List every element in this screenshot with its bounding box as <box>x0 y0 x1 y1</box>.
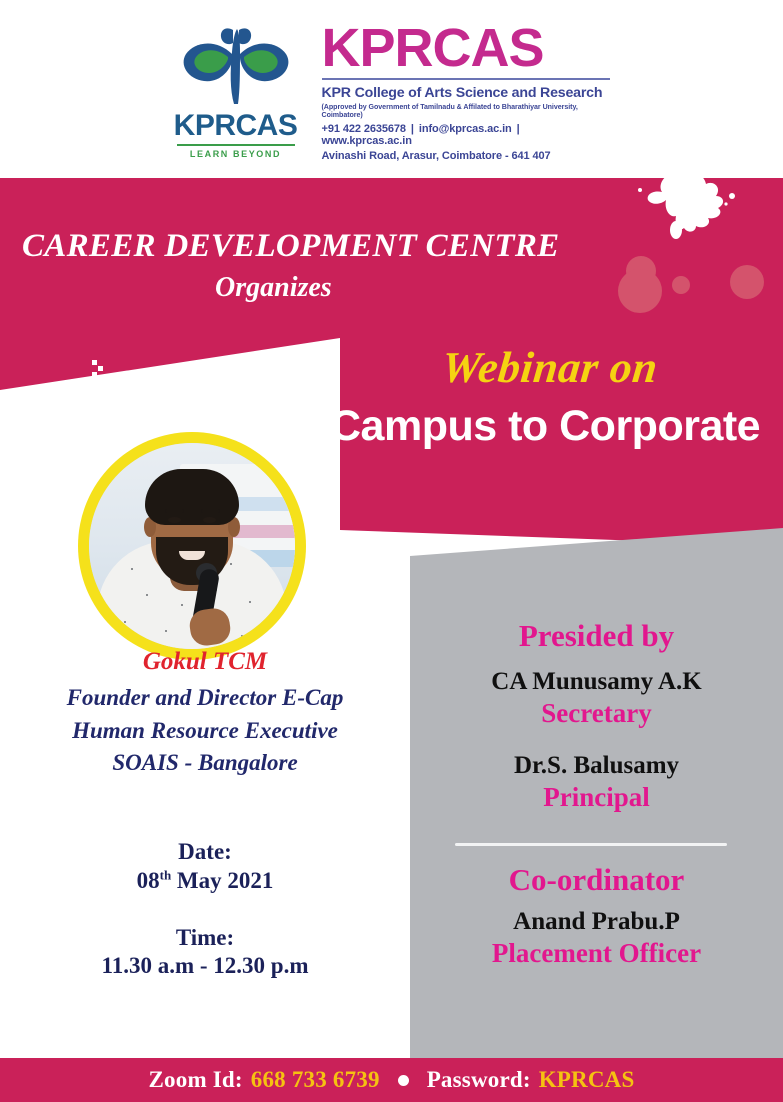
schedule-spacer <box>0 896 410 924</box>
dignitary-role: Principal <box>410 782 783 813</box>
presided-by-label: Presided by <box>410 618 783 654</box>
coordinator-name: Anand Prabu.P <box>410 908 783 936</box>
schedule-block: Date: 08th May 2021 Time: 11.30 a.m - 12… <box>0 838 410 981</box>
paint-splash-icon <box>612 170 742 250</box>
logo-wordmark: KPRCAS <box>174 111 298 141</box>
pixel-dot <box>92 372 97 377</box>
poster-header: KPRCAS LEARN BEYOND KPRCAS KPR College o… <box>0 0 783 178</box>
contact-separator-2: | <box>515 123 522 135</box>
coordinator-label: Co-ordinator <box>410 862 783 898</box>
decor-circle-3 <box>618 269 662 313</box>
pixel-dot <box>84 416 89 421</box>
brand-divider <box>322 78 610 80</box>
pixel-dot <box>98 366 103 371</box>
college-name: KPR College of Arts Science and Research <box>322 85 612 101</box>
pixel-dot <box>106 396 111 401</box>
brand-title: KPRCAS <box>322 22 612 75</box>
bullet-separator-icon <box>398 1075 409 1086</box>
password-label: Password: <box>427 1067 531 1093</box>
pixel-dot <box>50 398 55 403</box>
photo-eye-right <box>203 517 216 523</box>
dignitary-name: Dr.S. Balusamy <box>410 752 783 780</box>
dignitary-1: CA Munusamy A.K Secretary <box>410 668 783 729</box>
pixel-dot <box>108 412 113 417</box>
phone-number: +91 422 2635678 <box>322 123 406 135</box>
pixel-dot <box>92 360 97 365</box>
coordinator-role: Placement Officer <box>410 938 783 969</box>
speaker-role-line-2: Human Resource Executive <box>0 715 410 748</box>
pixel-dot <box>118 392 123 397</box>
photo-eye-left <box>168 517 181 523</box>
kprcas-logo: KPRCAS LEARN BEYOND <box>172 20 300 159</box>
approval-note: (Approved by Government of Tamilnadu & A… <box>322 103 612 119</box>
pixel-dot <box>104 432 109 437</box>
time-value: 11.30 a.m - 12.30 p.m <box>0 952 410 981</box>
logo-tagline: LEARN BEYOND <box>190 149 281 159</box>
date-month-year: May 2021 <box>171 868 273 893</box>
time-label: Time: <box>0 924 410 953</box>
pixel-dot <box>130 410 135 415</box>
leaf-emblem-icon <box>176 24 296 110</box>
panel-divider <box>455 843 727 846</box>
webinar-poster: KPRCAS LEARN BEYOND KPRCAS KPR College o… <box>0 0 783 1102</box>
coordinator-block: Anand Prabu.P Placement Officer <box>410 908 783 969</box>
pixel-dot <box>90 410 95 415</box>
contact-line: +91 422 2635678 | info@kprcas.ac.in | ww… <box>322 123 612 147</box>
date-label: Date: <box>0 838 410 867</box>
photo-hair <box>145 469 239 525</box>
institution-info: KPRCAS KPR College of Arts Science and R… <box>322 16 612 161</box>
organizes-label: Organizes <box>215 272 332 304</box>
speaker-org-line: SOAIS - Bangalore <box>0 747 410 780</box>
webinar-topic: Campus to Corporate <box>330 402 760 451</box>
pixel-dot <box>44 404 49 409</box>
pixel-dot <box>100 388 105 393</box>
photo-eyebrow-left <box>165 509 184 513</box>
zoom-id-value[interactable]: 668 733 6739 <box>243 1067 380 1093</box>
website-url[interactable]: www.kprcas.ac.in <box>322 135 412 147</box>
dignitary-name: CA Munusamy A.K <box>410 668 783 696</box>
pixel-dot <box>84 404 89 409</box>
date-day: 08 <box>137 868 160 893</box>
speaker-photo-ring <box>78 432 306 660</box>
speaker-photo <box>89 443 295 649</box>
password-value[interactable]: KPRCAS <box>531 1067 635 1093</box>
date-value: 08th May 2021 <box>0 867 410 896</box>
dignitary-2: Dr.S. Balusamy Principal <box>410 752 783 813</box>
pixel-dot <box>96 424 101 429</box>
speaker-credentials: Founder and Director E-Cap Human Resourc… <box>0 682 410 780</box>
organizer-title: CAREER DEVELOPMENT CENTRE <box>22 228 559 265</box>
decor-circle-4 <box>730 265 764 299</box>
webinar-on-label: Webinar on <box>439 342 660 393</box>
photo-eyebrow-right <box>201 509 220 513</box>
pixel-dot <box>136 420 141 425</box>
contact-separator-1: | <box>409 123 416 135</box>
pixel-dot <box>114 418 119 423</box>
pixel-dot <box>124 400 129 405</box>
decor-circle-2 <box>672 276 690 294</box>
zoom-id-label: Zoom Id: <box>149 1067 243 1093</box>
join-details: Zoom Id: 668 733 6739 Password: KPRCAS <box>149 1067 635 1093</box>
pixel-dot <box>142 408 147 413</box>
pixel-dot <box>100 404 105 409</box>
logo-divider <box>177 144 295 146</box>
poster-footer: Zoom Id: 668 733 6739 Password: KPRCAS <box>0 1058 783 1102</box>
pixel-dot <box>50 410 55 415</box>
postal-address: Avinashi Road, Arasur, Coimbatore - 641 … <box>322 150 612 162</box>
date-ordinal: th <box>160 867 172 882</box>
pixel-dot <box>104 380 109 385</box>
pixel-dot <box>56 404 61 409</box>
speaker-name: Gokul TCM <box>0 648 410 676</box>
speaker-role-line-1: Founder and Director E-Cap <box>0 682 410 715</box>
dignitary-role: Secretary <box>410 698 783 729</box>
email-address[interactable]: info@kprcas.ac.in <box>419 123 512 135</box>
